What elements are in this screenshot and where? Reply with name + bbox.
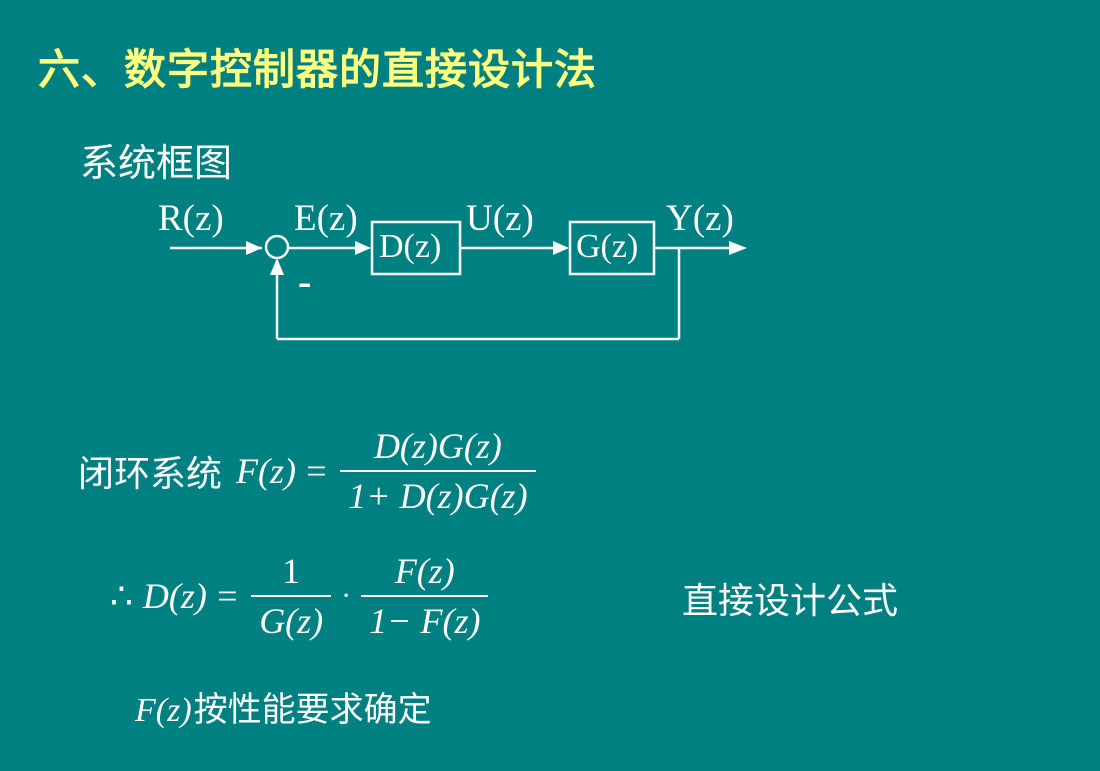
closed-loop-equation: F(z) = D(z)G(z) 1+ D(z)G(z) [236, 425, 540, 517]
summing-junction-minus-sign: - [298, 262, 311, 302]
multiplication-dot: · [335, 579, 357, 613]
signal-label-control: U(z) [466, 197, 534, 240]
block-diagram-section-label: 系统框图 [80, 132, 232, 187]
direct-design-frac2-denominator: 1− F(z) [361, 598, 488, 642]
direct-design-formula-row: ∴ D(z) = 1 G(z) · F(z) 1− F(z) [110, 550, 492, 642]
direct-design-frac2-bar [361, 595, 488, 597]
signal-label-error: E(z) [294, 197, 358, 240]
direct-design-equals: = [207, 575, 247, 617]
footnote-math: F(z) [135, 692, 192, 730]
direct-design-frac1-denominator: G(z) [251, 598, 331, 642]
arrowhead-input [246, 241, 262, 255]
plant-block-label: G(z) [576, 228, 638, 266]
summing-junction [266, 236, 288, 258]
controller-block-label: D(z) [379, 228, 441, 266]
page-title: 六、数字控制器的直接设计法 [38, 36, 597, 97]
direct-design-frac1-numerator: 1 [251, 550, 331, 594]
direct-design-lhs: D(z) [143, 575, 207, 617]
closed-loop-numerator: D(z)G(z) [340, 425, 535, 469]
footnote-text: 按性能要求确定 [194, 682, 432, 731]
arrowhead-error [355, 241, 371, 255]
closed-loop-label: 闭环系统 [78, 445, 222, 497]
direct-design-note: 直接设计公式 [682, 572, 898, 624]
closed-loop-fraction-bar [340, 470, 535, 472]
signal-label-input: R(z) [158, 197, 224, 240]
direct-design-frac1-bar [251, 595, 331, 597]
closed-loop-lhs: F(z) [236, 450, 296, 492]
block-diagram-graphics [0, 0, 1100, 771]
closed-loop-formula-row: 闭环系统 F(z) = D(z)G(z) 1+ D(z)G(z) [78, 425, 540, 517]
direct-design-fraction-two: F(z) 1− F(z) [361, 550, 488, 642]
direct-design-frac2-numerator: F(z) [361, 550, 488, 594]
direct-design-fraction-one: 1 G(z) [251, 550, 331, 642]
arrowhead-feedback [270, 258, 284, 275]
therefore-symbol: ∴ [110, 575, 143, 617]
footnote-row: F(z) 按性能要求确定 [135, 682, 432, 731]
arrowhead-output [729, 241, 747, 255]
signal-label-output: Y(z) [666, 197, 734, 240]
closed-loop-fraction: D(z)G(z) 1+ D(z)G(z) [340, 425, 535, 517]
closed-loop-denominator: 1+ D(z)G(z) [340, 473, 535, 517]
arrowhead-control [553, 241, 569, 255]
slide-canvas: 六、数字控制器的直接设计法 系统框图 [0, 0, 1100, 771]
closed-loop-equals: = [296, 450, 336, 492]
